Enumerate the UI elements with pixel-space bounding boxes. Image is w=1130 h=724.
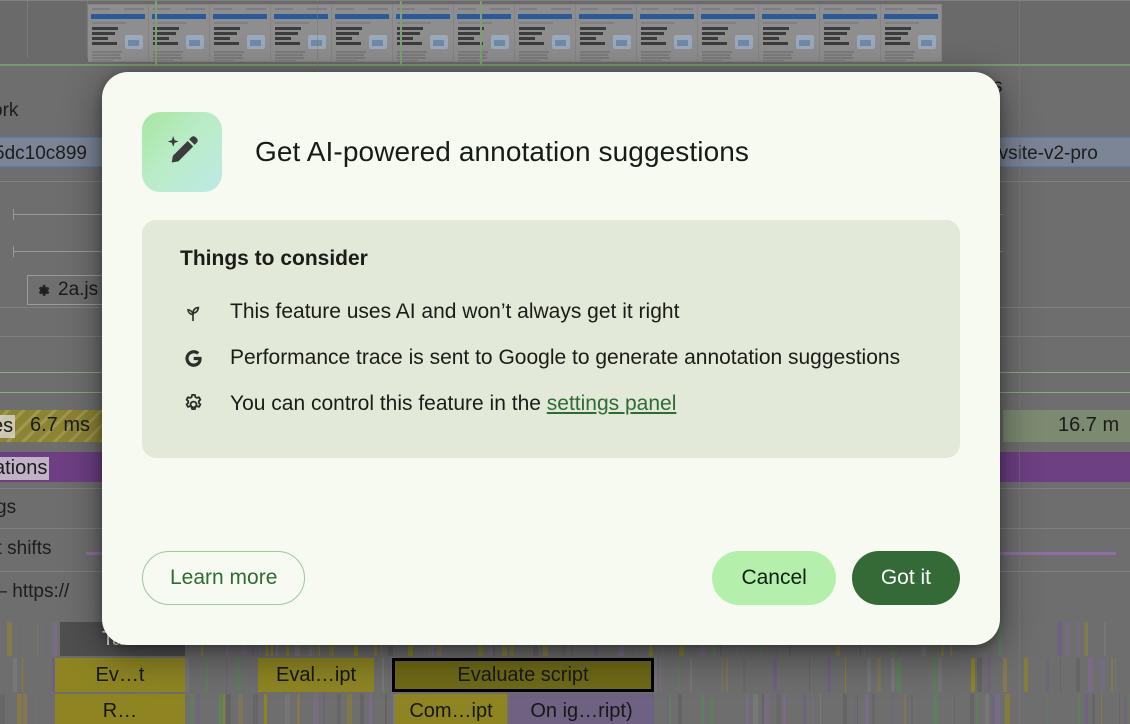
things-to-consider-list: This feature uses AI and won’t always ge…: [180, 289, 922, 427]
sprout-icon: [180, 296, 206, 326]
magic-pencil-icon: [142, 112, 222, 192]
dialog-footer: Learn more Cancel Got it: [142, 533, 960, 605]
dialog-title: Get AI-powered annotation suggestions: [255, 136, 749, 168]
consider-item-settings-control: You can control this feature in the sett…: [180, 381, 922, 427]
consider-item-text: Performance trace is sent to Google to g…: [230, 342, 900, 374]
consider-item-text: You can control this feature in the sett…: [230, 388, 676, 420]
dialog-header: Get AI-powered annotation suggestions: [142, 112, 960, 192]
gear-icon: [180, 388, 206, 418]
things-to-consider-heading: Things to consider: [180, 247, 922, 271]
consider-item-ai-accuracy: This feature uses AI and won’t always ge…: [180, 289, 922, 335]
ai-annotation-consent-dialog: Get AI-powered annotation suggestions Th…: [102, 72, 1000, 645]
screen: ork s 5dc10c899 evsite-v2-pro 2a.js es 6…: [0, 0, 1130, 724]
got-it-button[interactable]: Got it: [852, 551, 960, 605]
consider-item-text: This feature uses AI and won’t always ge…: [230, 296, 679, 328]
settings-panel-link[interactable]: settings panel: [547, 392, 677, 415]
google-g-icon: [180, 342, 206, 372]
consider-item-text-before: You can control this feature in the: [230, 392, 547, 415]
consider-item-google-trace: Performance trace is sent to Google to g…: [180, 335, 922, 381]
cancel-button[interactable]: Cancel: [712, 551, 835, 605]
learn-more-button[interactable]: Learn more: [142, 551, 305, 605]
things-to-consider-card: Things to consider This feature uses AI …: [142, 220, 960, 458]
